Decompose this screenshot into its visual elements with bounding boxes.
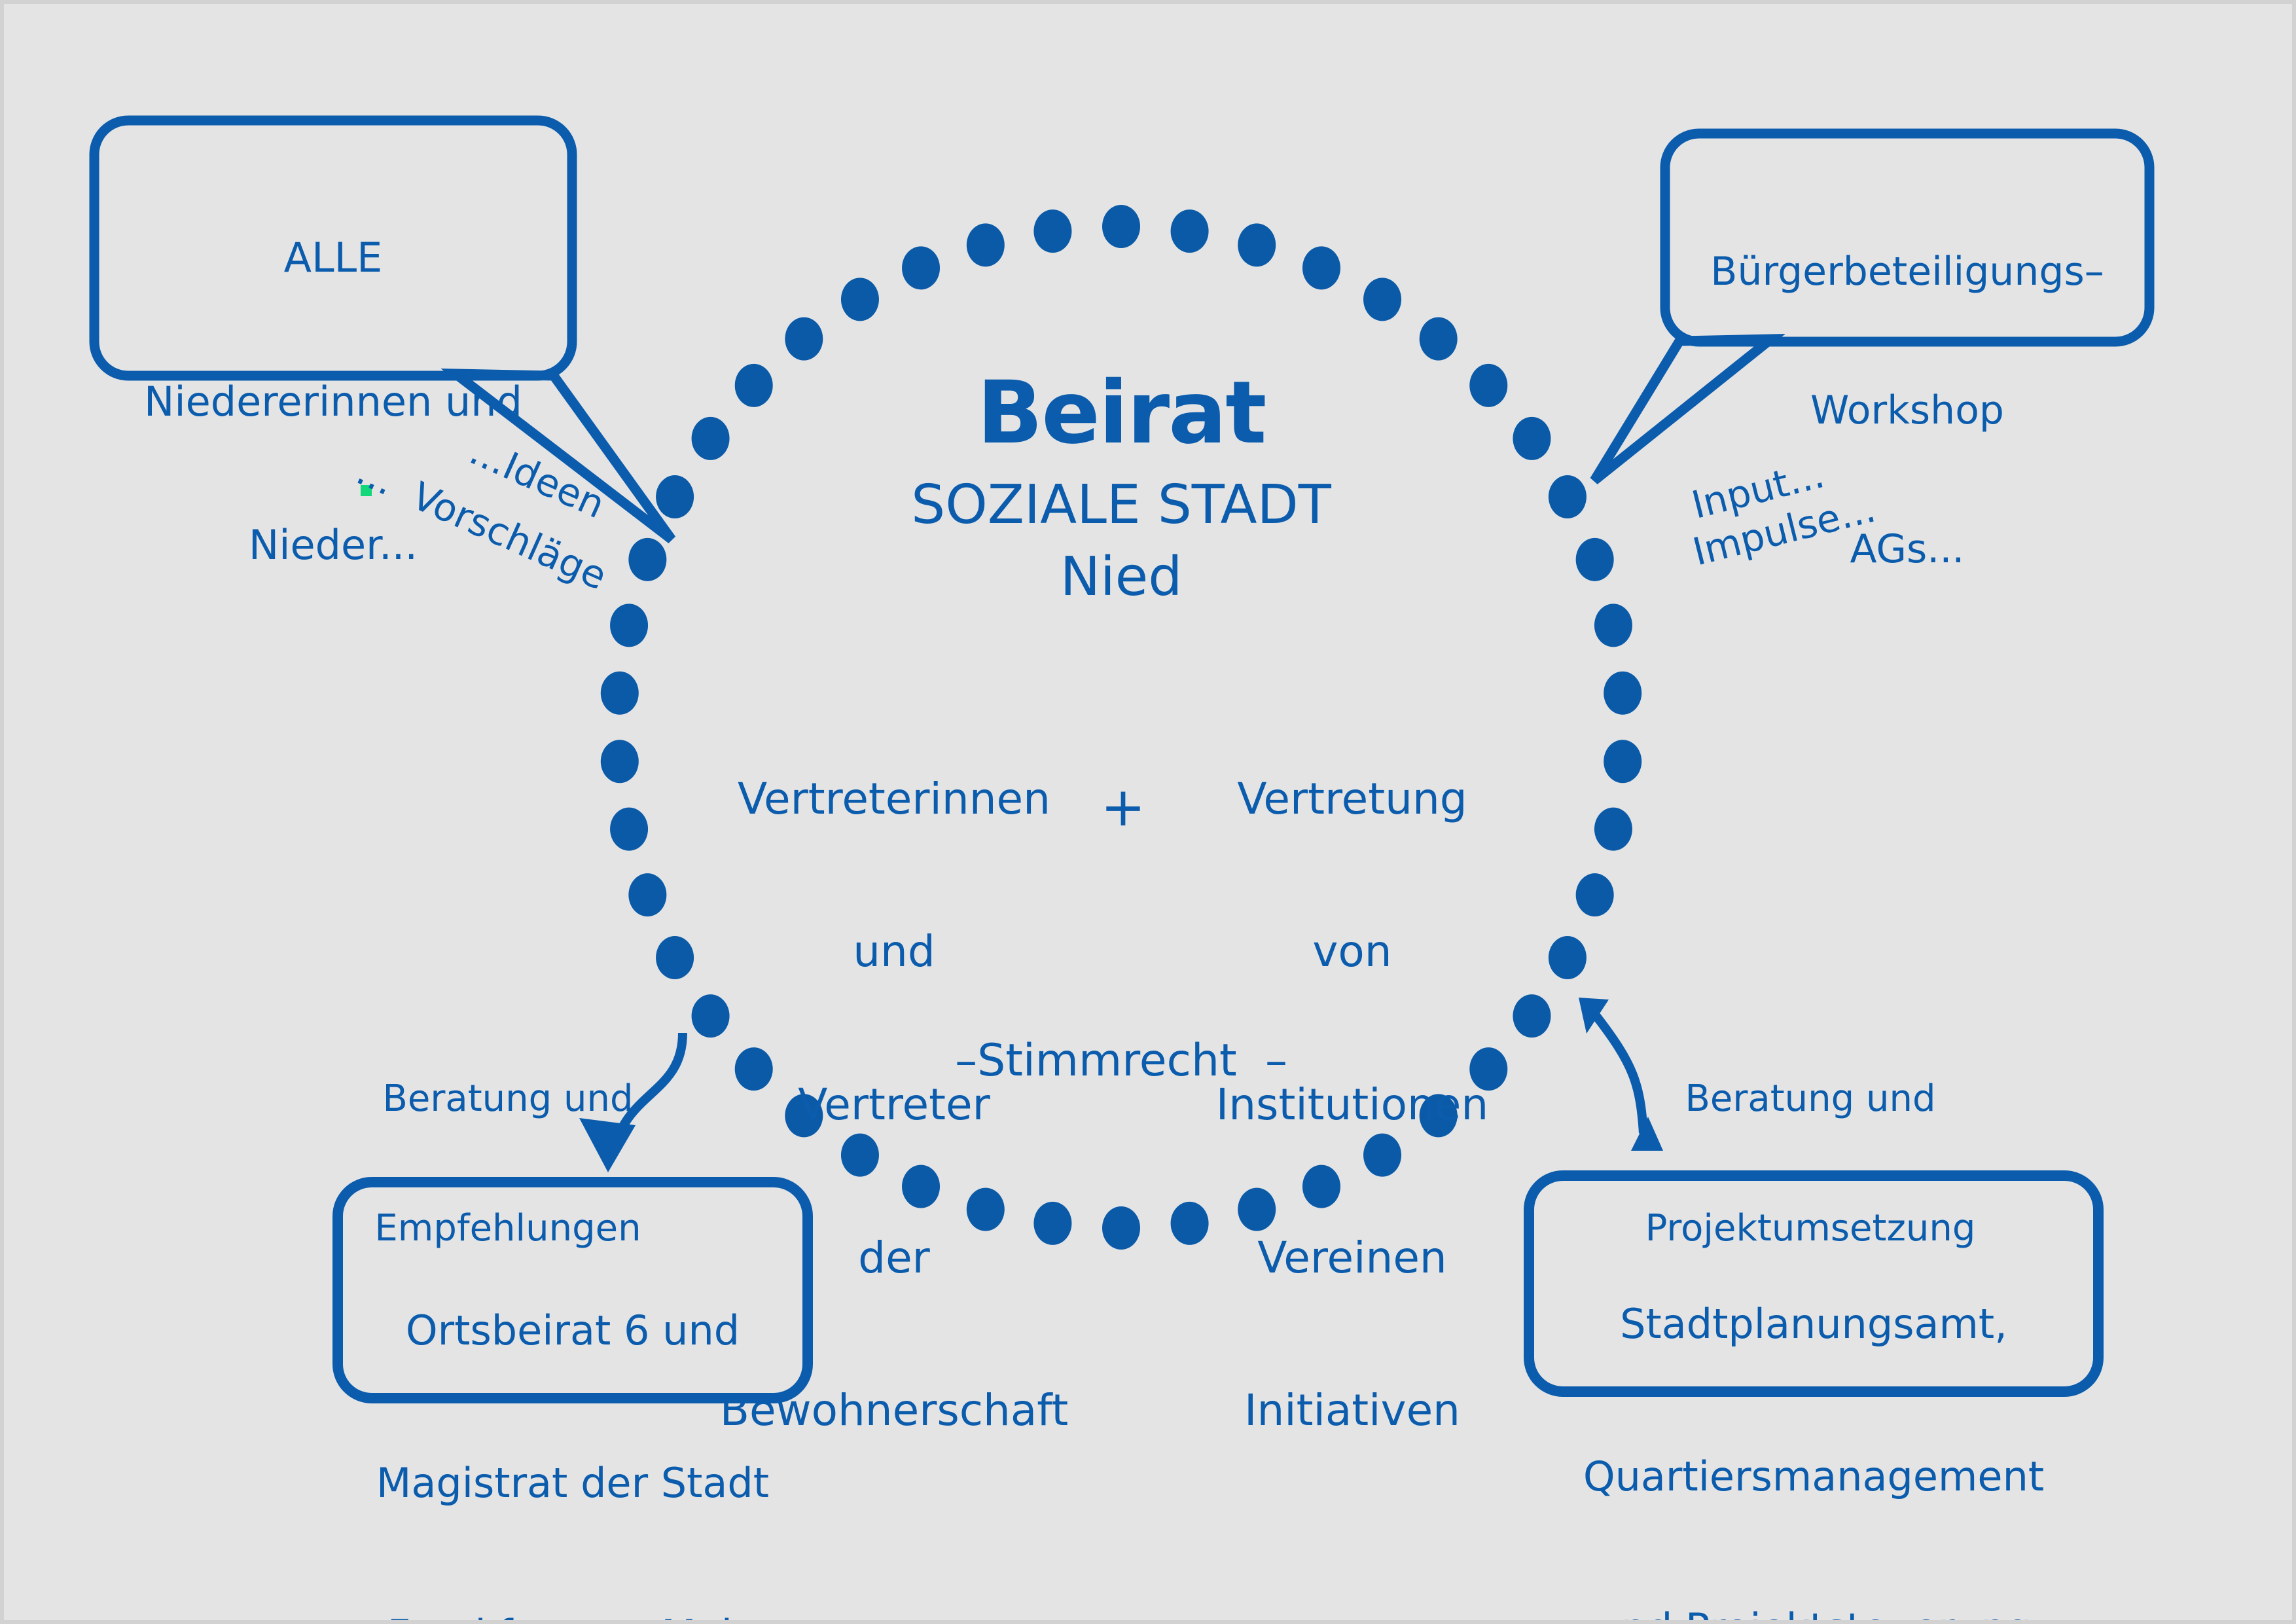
center-right-line-1: Vertretung bbox=[1162, 774, 1542, 825]
bubble-top-right-line-2: Workshop bbox=[1665, 388, 2149, 434]
arrow-right-curve bbox=[1596, 1015, 1643, 1133]
box-bottom-right-text: Stadtplanungsamt, Quartiersmanagement un… bbox=[1529, 1197, 2098, 1624]
box-bottom-right-line-2: Quartiersmanagement bbox=[1529, 1451, 2098, 1502]
center-right-line-4: Vereinen bbox=[1162, 1233, 1542, 1284]
bubble-top-left-line-1: ALLE bbox=[94, 234, 572, 281]
center-right-column: Vertretung von Institutionen Vereinen In… bbox=[1162, 672, 1542, 1538]
center-left-line-2: und bbox=[698, 926, 1090, 977]
center-plus-operator: + bbox=[1071, 776, 1175, 840]
box-bottom-right-line-3: und Projektsteuerung bbox=[1529, 1603, 2098, 1624]
bubble-top-left-line-2: Niedererinnen und bbox=[94, 378, 572, 425]
box-bottom-left-text: Ortsbeirat 6 und Magistrat der Stadt Fra… bbox=[338, 1204, 808, 1624]
label-beratung-projektumsetzung-line-1: Beratung und bbox=[1640, 1077, 1981, 1121]
bubble-top-right-text: Bürgerbeteiligungs– Workshop AGs... bbox=[1665, 156, 2149, 666]
box-bottom-left-line-2: Magistrat der Stadt bbox=[338, 1458, 808, 1509]
bubble-top-right-line-1: Bürgerbeteiligungs– bbox=[1665, 249, 2149, 295]
box-bottom-left-line-1: Ortsbeirat 6 und bbox=[338, 1305, 808, 1356]
center-left-line-1: Vertreterinnen bbox=[698, 774, 1090, 825]
center-right-line-2: von bbox=[1162, 926, 1542, 977]
center-footer-stimmrecht: –Stimmrecht – bbox=[794, 1035, 1448, 1087]
center-location: Nied bbox=[794, 546, 1448, 609]
center-right-line-5: Initiativen bbox=[1162, 1385, 1542, 1436]
box-bottom-left-line-3: Frankfurt am Main bbox=[338, 1610, 808, 1624]
box-bottom-right-line-1: Stadtplanungsamt, bbox=[1529, 1299, 2098, 1350]
center-title: Beirat bbox=[794, 363, 1448, 465]
diagram-canvas: ALLE Niedererinnen und Nieder... Bürgerb… bbox=[0, 0, 2296, 1624]
bubble-top-left-text: ALLE Niedererinnen und Nieder... bbox=[94, 138, 572, 665]
center-subtitle: SOZIALE STADT bbox=[794, 474, 1448, 537]
label-beratung-empfehlungen-line-1: Beratung und bbox=[367, 1077, 649, 1121]
